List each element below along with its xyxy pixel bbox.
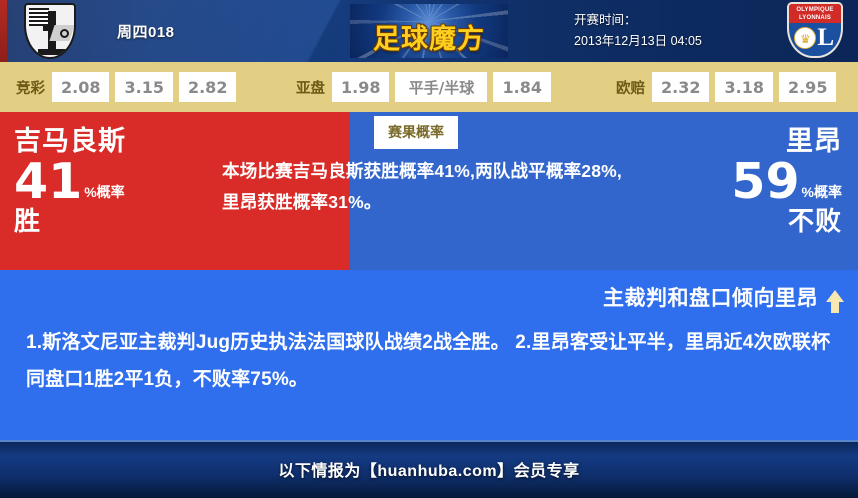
home-probability-value: 41 — [14, 158, 82, 206]
olympique-lyonnais-shield-icon: OLYMPIQUE LYONNAIS ♛ L — [787, 2, 843, 58]
match-number: 周四018 — [117, 21, 175, 42]
odds-cell-draw[interactable]: 3.18 — [715, 72, 772, 102]
kickoff-label: 开赛时间： — [574, 10, 764, 31]
page-footer: 以下情报为【huanhuba.com】会员专享 — [0, 440, 858, 498]
home-probability-suffix: %概率 — [84, 185, 124, 206]
analysis-section: 主裁判和盘口倾向里昂 1.斯洛文尼亚主裁判Jug历史执法法国球队战绩2战全胜。 … — [0, 270, 858, 440]
crest-circle-detail — [60, 29, 69, 38]
odds-cell-home[interactable]: 1.98 — [332, 72, 389, 102]
odds-group-label: 亚盘 — [296, 77, 325, 98]
away-probability-value: 59 — [731, 158, 799, 206]
odds-cell-handicap[interactable]: 平手/半球 — [395, 72, 487, 102]
away-probability-summary: 里昂 59 %概率 不败 — [602, 126, 842, 236]
home-team-name: 吉马良斯 — [14, 126, 224, 156]
crest-hatch-detail — [29, 8, 49, 26]
odds-cell-away[interactable]: 1.84 — [493, 72, 550, 102]
vitoria-guimaraes-shield-icon — [24, 3, 76, 59]
odds-bar: 竞彩 2.08 3.15 2.82 亚盘 1.98 平手/半球 1.84 欧赔 … — [0, 62, 858, 112]
odds-group-label: 竞彩 — [16, 77, 45, 98]
page-header: 周四018 足球魔方 开赛时间： 2013年12月13日 04:05 OLYMP… — [0, 0, 858, 62]
away-probability-suffix: %概率 — [802, 185, 842, 206]
odds-cell-away[interactable]: 2.82 — [179, 72, 236, 102]
crest-letter: L — [817, 25, 834, 50]
analysis-points: 1.斯洛文尼亚主裁判Jug历史执法法国球队战绩2战全胜。 2.里昂客受让平半，里… — [26, 324, 838, 398]
brand-logo[interactable]: 足球魔方 — [350, 4, 508, 58]
header-red-edge — [0, 0, 7, 62]
crest-base-detail — [38, 49, 66, 55]
crest-top-band: OLYMPIQUE LYONNAIS — [789, 4, 841, 23]
kickoff-info: 开赛时间： 2013年12月13日 04:05 — [574, 10, 764, 52]
kickoff-value: 2013年12月13日 04:05 — [574, 31, 764, 52]
probability-band: 吉马良斯 41 %概率 胜 赛果概率 本场比赛吉马良斯获胜概率41%,两队战平概… — [0, 112, 858, 270]
odds-cell-draw[interactable]: 3.15 — [115, 72, 172, 102]
crest-club-line2: LYONNAIS — [799, 14, 831, 22]
away-verdict: 不败 — [602, 206, 842, 236]
lion-icon: ♛ — [800, 33, 812, 45]
tab-result-probability[interactable]: 赛果概率 — [374, 116, 458, 149]
odds-cell-home[interactable]: 2.08 — [52, 72, 109, 102]
odds-cell-away[interactable]: 2.95 — [779, 72, 836, 102]
analysis-headline: 主裁判和盘口倾向里昂 — [603, 282, 844, 312]
home-probability-summary: 吉马良斯 41 %概率 胜 — [14, 126, 224, 236]
brand-logo-text: 足球魔方 — [350, 17, 508, 56]
crest-lion-circle: ♛ — [794, 27, 816, 49]
odds-group-jingcai: 竞彩 2.08 3.15 2.82 — [16, 72, 242, 102]
away-probability-row: 59 %概率 — [602, 158, 842, 206]
away-team-name: 里昂 — [602, 126, 842, 156]
odds-group-european: 欧赔 2.32 3.18 2.95 — [616, 72, 842, 102]
away-team-crest: OLYMPIQUE LYONNAIS ♛ L — [784, 2, 846, 60]
analysis-title-text: 主裁判和盘口倾向里昂 — [603, 282, 818, 312]
match-preview-page: 周四018 足球魔方 开赛时间： 2013年12月13日 04:05 OLYMP… — [0, 0, 858, 498]
home-team-crest — [21, 3, 79, 59]
arrow-up-icon — [826, 290, 844, 302]
odds-cell-home[interactable]: 2.32 — [652, 72, 709, 102]
probability-description: 本场比赛吉马良斯获胜概率41%,两队战平概率28%,里昂获胜概率31%。 — [222, 156, 632, 218]
odds-group-asian-handicap: 亚盘 1.98 平手/半球 1.84 — [296, 72, 557, 102]
footer-notice: 以下情报为【huanhuba.com】会员专享 — [278, 457, 579, 481]
analysis-point-1: 1.斯洛文尼亚主裁判Jug历史执法法国球队战绩2战全胜。 — [26, 332, 510, 353]
home-probability-row: 41 %概率 — [14, 158, 224, 206]
crest-club-line1: OLYMPIQUE — [796, 6, 833, 14]
odds-group-label: 欧赔 — [616, 77, 645, 98]
home-verdict: 胜 — [14, 206, 224, 236]
